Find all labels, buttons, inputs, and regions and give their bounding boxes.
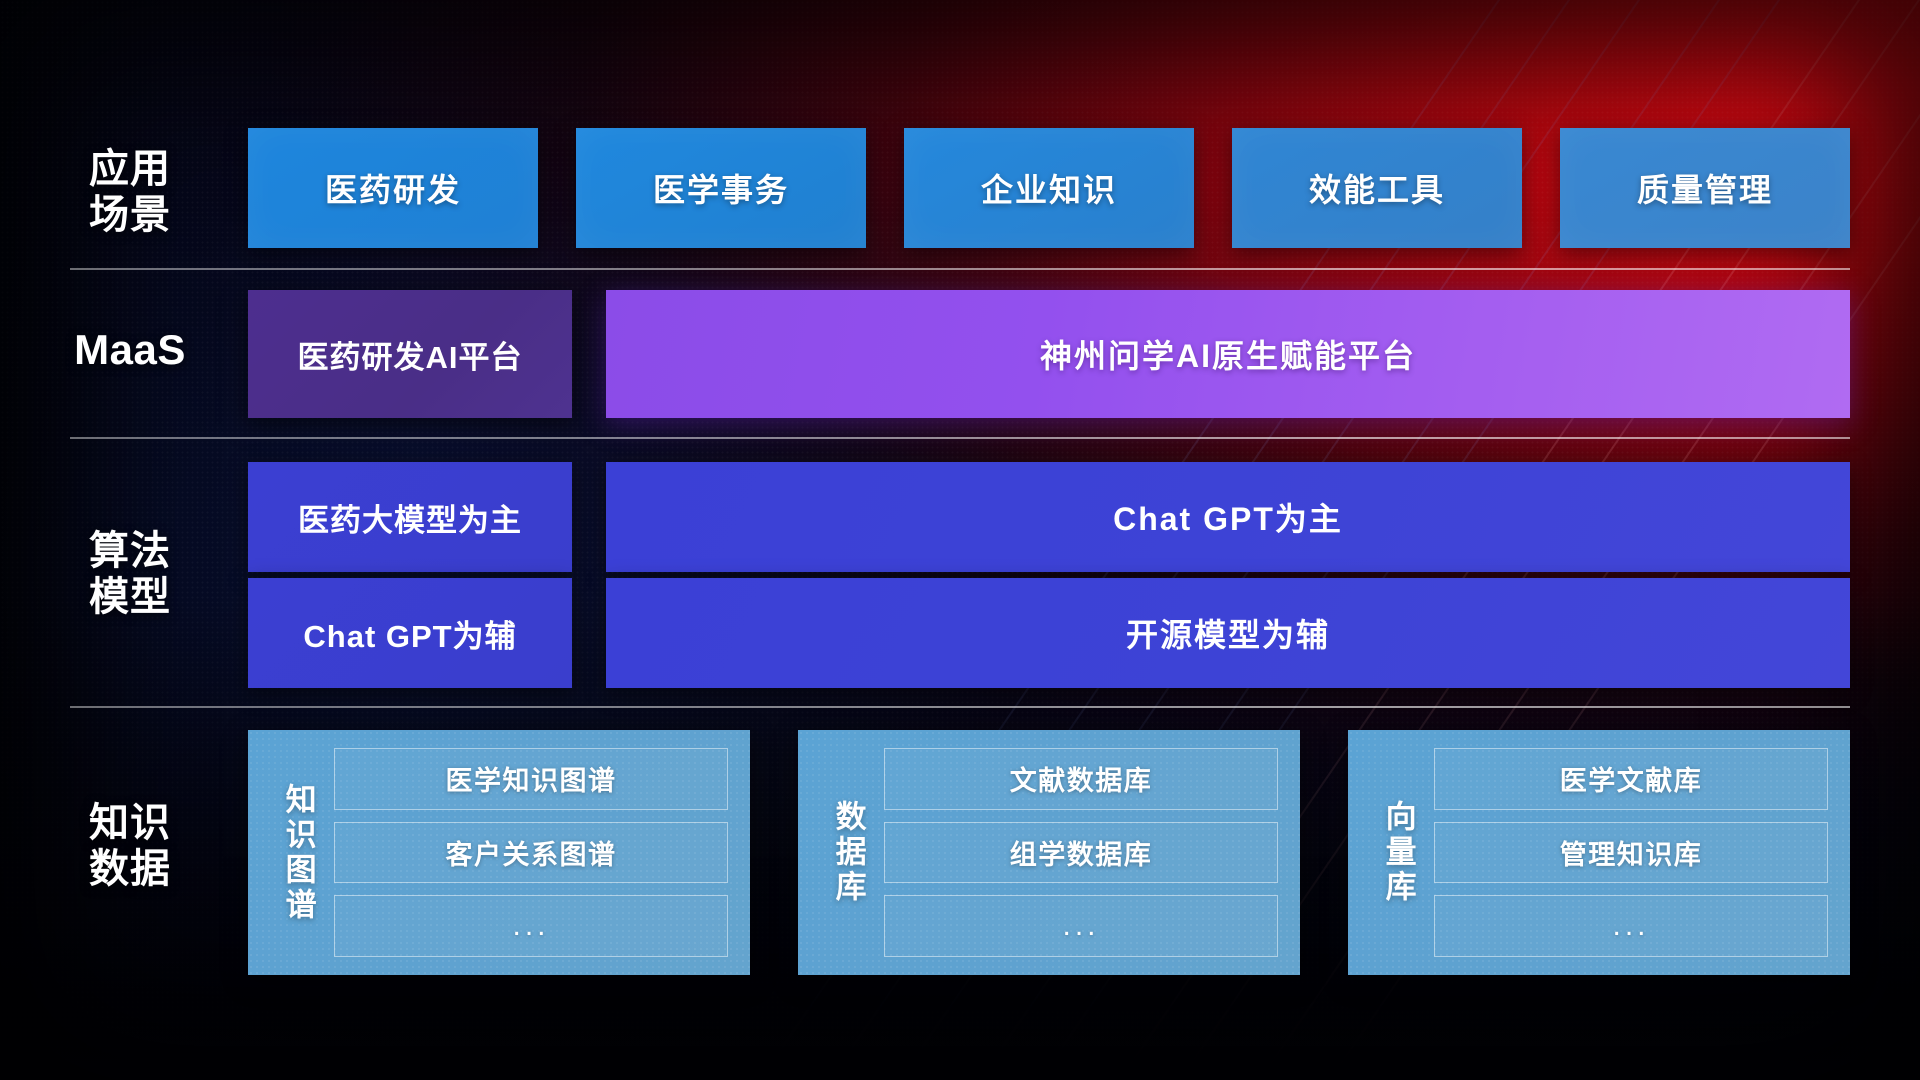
knowledge-item-medical-literature-library[interactable]: 医学文献库 [1434,748,1828,810]
knowledge-group-vector-title: 向量库 [1362,748,1434,957]
row-label-maas: MaaS [70,326,190,375]
application-card-track: 医药研发 医学事务 企业知识 效能工具 质量管理 [248,128,1850,248]
algo-card-opensource-secondary[interactable]: 开源模型为辅 [606,578,1850,688]
knowledge-item-management-knowledge-library[interactable]: 管理知识库 [1434,822,1828,884]
knowledge-item-omics-database[interactable]: 组学数据库 [884,822,1278,884]
maas-card-track: 医药研发AI平台 神州问学AI原生赋能平台 [248,290,1850,418]
app-card-enterprise-knowledge[interactable]: 企业知识 [904,128,1194,248]
row-applications: 应用 场景 医药研发 医学事务 企业知识 效能工具 质量管理 [0,128,1920,248]
row-label-applications: 应用 场景 [70,146,190,239]
maas-card-shenzhou-platform[interactable]: 神州问学AI原生赋能平台 [606,290,1850,418]
divider-maas-algorithm [70,437,1850,439]
row-knowledge-data: 知识 数据 知识图谱 医学知识图谱 客户关系图谱 ... 数据库 文献数据库 [0,730,1920,975]
algorithm-primary-line: 医药大模型为主 Chat GPT为主 [248,462,1850,572]
knowledge-group-vector-items: 医学文献库 管理知识库 ... [1434,748,1828,957]
knowledge-item-database-more[interactable]: ... [884,895,1278,957]
row-label-algorithm-models: 算法 模型 [70,528,190,621]
app-card-medicine-rnd[interactable]: 医药研发 [248,128,538,248]
row-label-knowledge-line1: 知识 [70,800,190,846]
knowledge-item-medical-knowledge-graph[interactable]: 医学知识图谱 [334,748,728,810]
divider-algorithm-knowledge [70,706,1850,708]
knowledge-item-graph-more[interactable]: ... [334,895,728,957]
app-card-efficiency-tools[interactable]: 效能工具 [1232,128,1522,248]
row-maas: MaaS 医药研发AI平台 神州问学AI原生赋能平台 [0,290,1920,418]
slide-canvas: 应用 场景 医药研发 医学事务 企业知识 效能工具 质量管理 MaaS 医药研发… [0,0,1920,1080]
app-card-quality-management[interactable]: 质量管理 [1560,128,1850,248]
algorithm-secondary-line: Chat GPT为辅 开源模型为辅 [248,578,1850,688]
architecture-diagram: 应用 场景 医药研发 医学事务 企业知识 效能工具 质量管理 MaaS 医药研发… [0,0,1920,1080]
row-algorithm-models: 算法 模型 医药大模型为主 Chat GPT为主 Chat GPT为辅 开源模型… [0,462,1920,702]
row-label-algorithm-line2: 模型 [70,574,190,620]
row-label-knowledge-data: 知识 数据 [70,800,190,893]
knowledge-item-vector-more[interactable]: ... [1434,895,1828,957]
algo-card-medicine-llm-primary[interactable]: 医药大模型为主 [248,462,572,572]
knowledge-group-database-title: 数据库 [812,748,884,957]
row-label-applications-line2: 场景 [70,192,190,238]
knowledge-item-literature-database[interactable]: 文献数据库 [884,748,1278,810]
divider-applications-maas [70,268,1850,270]
knowledge-group-graph-items: 医学知识图谱 客户关系图谱 ... [334,748,728,957]
app-card-medical-affairs[interactable]: 医学事务 [576,128,866,248]
maas-card-medicine-ai-platform[interactable]: 医药研发AI平台 [248,290,572,418]
row-label-algorithm-line1: 算法 [70,528,190,574]
knowledge-group-graph[interactable]: 知识图谱 医学知识图谱 客户关系图谱 ... [248,730,750,975]
algo-card-chatgpt-secondary[interactable]: Chat GPT为辅 [248,578,572,688]
knowledge-group-vector[interactable]: 向量库 医学文献库 管理知识库 ... [1348,730,1850,975]
knowledge-group-track: 知识图谱 医学知识图谱 客户关系图谱 ... 数据库 文献数据库 组学数据库 .… [248,730,1850,975]
algo-card-chatgpt-primary[interactable]: Chat GPT为主 [606,462,1850,572]
row-label-knowledge-line2: 数据 [70,846,190,892]
row-label-applications-line1: 应用 [70,146,190,192]
knowledge-item-customer-relation-graph[interactable]: 客户关系图谱 [334,822,728,884]
knowledge-group-graph-title: 知识图谱 [262,748,334,957]
knowledge-group-database[interactable]: 数据库 文献数据库 组学数据库 ... [798,730,1300,975]
knowledge-group-database-items: 文献数据库 组学数据库 ... [884,748,1278,957]
